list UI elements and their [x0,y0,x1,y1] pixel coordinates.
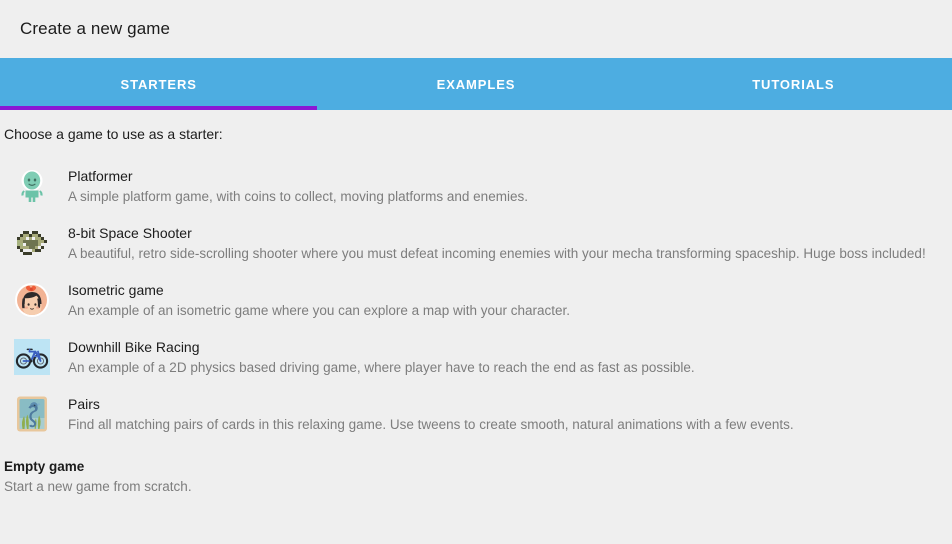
game-title: Isometric game [68,280,942,300]
tab-examples-label: EXAMPLES [437,77,516,92]
tab-tutorials[interactable]: TUTORIALS [635,58,952,110]
game-description: A beautiful, retro side-scrolling shoote… [68,244,942,264]
page-title: Create a new game [20,19,170,39]
game-title: Platformer [68,166,942,186]
list-item-text: Platformer A simple platform game, with … [68,166,942,207]
bicycle-icon [14,339,50,375]
tab-examples[interactable]: EXAMPLES [317,58,634,110]
seahorse-card-icon [14,396,50,432]
list-item-text: Isometric game An example of an isometri… [68,280,942,321]
list-item-text: Pairs Find all matching pairs of cards i… [68,394,942,435]
game-title: Downhill Bike Racing [68,337,942,357]
choose-game-label: Choose a game to use as a starter: [0,110,952,144]
tab-starters-label: STARTERS [121,77,197,92]
empty-game-description: Start a new game from scratch. [4,477,942,497]
list-item[interactable]: Platformer A simple platform game, with … [0,166,952,207]
tab-tutorials-label: TUTORIALS [752,77,834,92]
game-description: An example of a 2D physics based driving… [68,358,942,378]
game-title: Pairs [68,394,942,414]
list-item[interactable]: Downhill Bike Racing An example of a 2D … [0,337,952,378]
tab-starters[interactable]: STARTERS [0,58,317,110]
active-tab-indicator [0,106,317,110]
list-item-text: 8-bit Space Shooter A beautiful, retro s… [68,223,942,264]
game-description: A simple platform game, with coins to co… [68,187,942,207]
platformer-character-icon [14,168,50,204]
empty-game-title: Empty game [4,457,942,477]
dialog-header: Create a new game [0,0,952,58]
list-item[interactable]: 8-bit Space Shooter A beautiful, retro s… [0,223,952,264]
tab-bar: STARTERS EXAMPLES TUTORIALS [0,58,952,110]
game-description: Find all matching pairs of cards in this… [68,415,942,435]
starter-game-list: Platformer A simple platform game, with … [0,166,952,435]
starters-panel: Choose a game to use as a starter: Platf… [0,110,952,544]
list-item[interactable]: Pairs Find all matching pairs of cards i… [0,394,952,435]
list-item-empty-game[interactable]: Empty game Start a new game from scratch… [0,451,952,497]
character-avatar-icon [14,282,50,318]
game-title: 8-bit Space Shooter [68,223,942,243]
list-item[interactable]: Isometric game An example of an isometri… [0,280,952,321]
game-description: An example of an isometric game where yo… [68,301,942,321]
pixel-spaceship-icon [14,225,50,261]
list-item-text: Downhill Bike Racing An example of a 2D … [68,337,942,378]
